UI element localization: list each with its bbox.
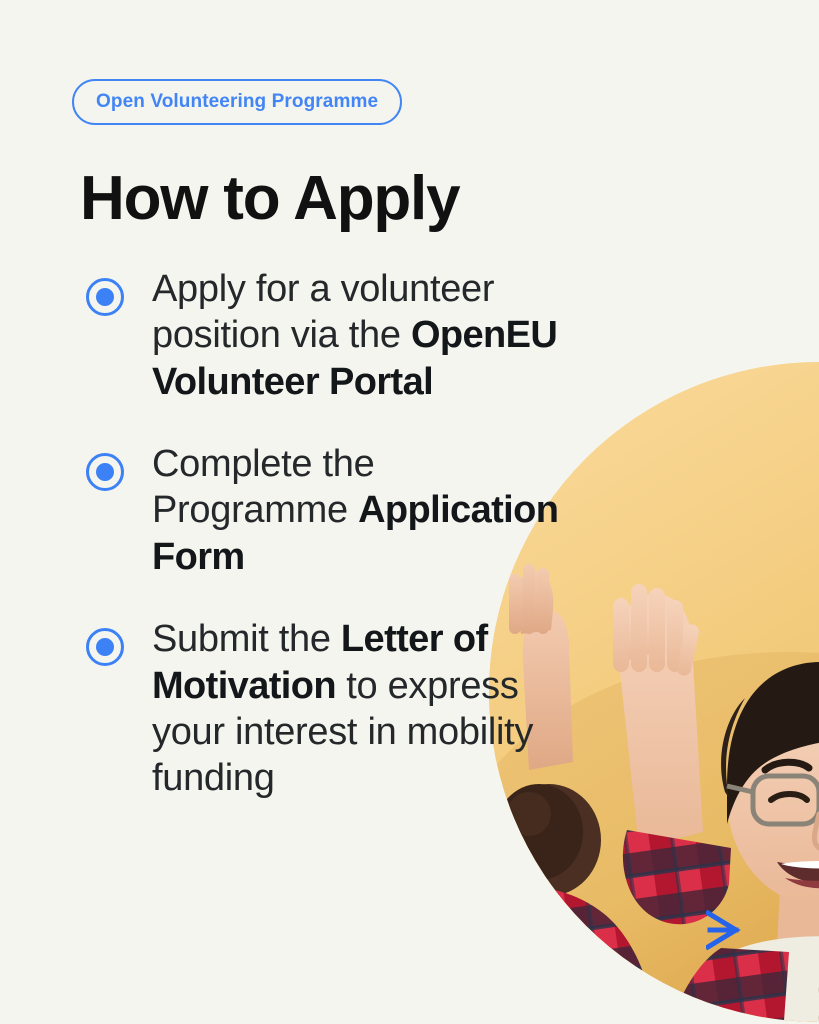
step-lead: Submit the — [152, 618, 341, 660]
radio-filled-icon — [86, 628, 124, 666]
radio-filled-icon — [86, 278, 124, 316]
poster-canvas: Open Volunteering Programme How to Apply… — [0, 0, 819, 1024]
steps-list: Apply for a volunteer position via the O… — [80, 266, 580, 802]
step-text: Complete the Programme Application Form — [152, 441, 580, 580]
step-lead: Complete the Programme — [152, 443, 374, 531]
step-text: Submit the Letter of Motivation to expre… — [152, 616, 580, 801]
list-item: Apply for a volunteer position via the O… — [80, 266, 580, 405]
programme-badge: Open Volunteering Programme — [72, 79, 402, 125]
step-text: Apply for a volunteer position via the O… — [152, 266, 580, 405]
content-column: Open Volunteering Programme How to Apply… — [0, 0, 600, 1024]
list-item: Submit the Letter of Motivation to expre… — [80, 616, 580, 801]
radio-filled-icon — [86, 453, 124, 491]
list-item: Complete the Programme Application Form — [80, 441, 580, 580]
arrow-right-icon[interactable] — [706, 905, 762, 955]
page-title: How to Apply — [80, 166, 459, 231]
